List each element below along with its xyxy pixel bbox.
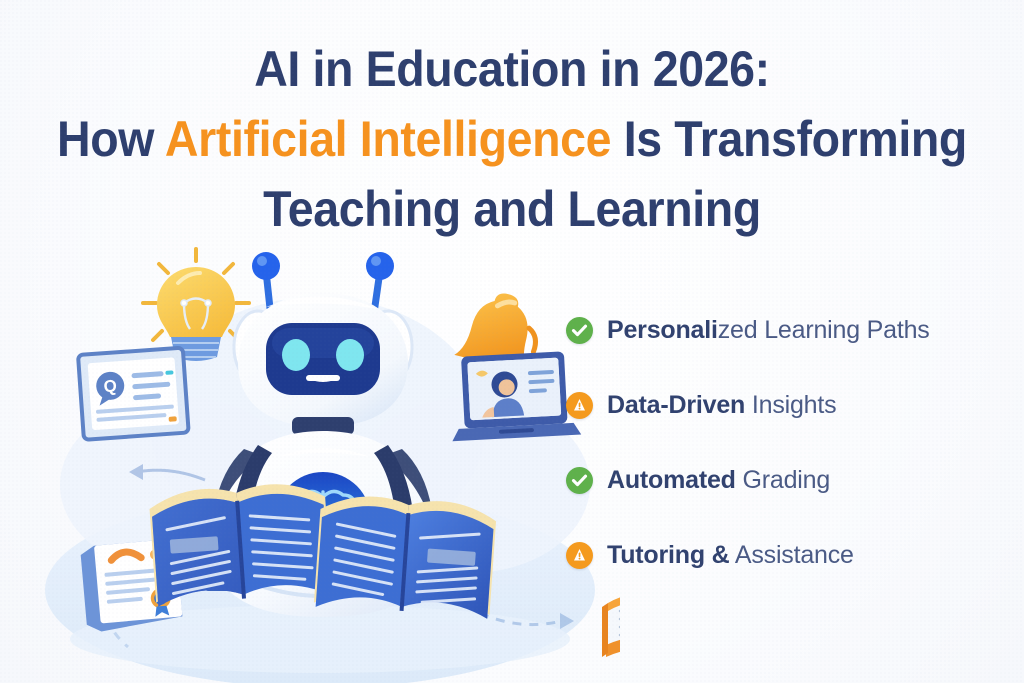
title-accent-artificial-intelligence: Artificial Intelligence bbox=[165, 111, 611, 167]
robot-head bbox=[238, 293, 408, 427]
svg-text:Q: Q bbox=[103, 376, 118, 396]
feature-label: Personalized Learning Paths bbox=[607, 316, 930, 345]
robot-eye-left bbox=[282, 339, 310, 371]
feature-label-strong: Data-Driven bbox=[607, 391, 745, 419]
feature-label-strong: Tutoring & bbox=[607, 541, 730, 569]
title-line-2: How Artificial Intelligence Is Transform… bbox=[36, 104, 988, 174]
poster-canvas: Q bbox=[0, 0, 1024, 683]
feature-label-light: zed Learning Paths bbox=[718, 316, 930, 344]
warning-circle-icon bbox=[566, 542, 593, 569]
title-line-2-post: Is Transforming bbox=[611, 111, 967, 167]
feature-label-strong: Automated bbox=[607, 466, 736, 494]
feature-label-light: Insights bbox=[745, 391, 836, 419]
feature-list: Personalized Learning Paths Data-Driven … bbox=[566, 293, 996, 593]
robot-face-screen bbox=[266, 323, 380, 395]
title-line-3: Teaching and Learning bbox=[36, 174, 988, 244]
feature-item-tutoring-assistance[interactable]: Tutoring & Assistance bbox=[566, 518, 996, 593]
feature-label: Data-Driven Insights bbox=[607, 391, 836, 420]
title-line-2-pre: How bbox=[57, 111, 165, 167]
feature-item-data-driven-insights[interactable]: Data-Driven Insights bbox=[566, 368, 996, 443]
feature-item-personalized-learning-paths[interactable]: Personalized Learning Paths bbox=[566, 293, 996, 368]
check-circle-icon bbox=[566, 467, 593, 494]
title-line-1: AI in Education in 2026: bbox=[36, 34, 988, 104]
feature-item-automated-grading[interactable]: Automated Grading bbox=[566, 443, 996, 518]
feature-label-light: Assistance bbox=[730, 541, 854, 569]
feature-label: Automated Grading bbox=[607, 466, 830, 495]
check-circle-icon bbox=[566, 317, 593, 344]
feature-label: Tutoring & Assistance bbox=[607, 541, 854, 570]
open-book-orange-icon bbox=[602, 594, 620, 657]
question-document-icon: Q bbox=[78, 348, 189, 440]
ai-education-illustration: Q bbox=[0, 235, 620, 683]
feature-label-strong: Personali bbox=[607, 316, 718, 344]
laptop-video-call-icon bbox=[448, 351, 581, 442]
poster-title: AI in Education in 2026: How Artificial … bbox=[0, 34, 1024, 244]
robot-eye-right bbox=[336, 339, 364, 371]
feature-label-light: Grading bbox=[736, 466, 830, 494]
warning-circle-icon bbox=[566, 392, 593, 419]
